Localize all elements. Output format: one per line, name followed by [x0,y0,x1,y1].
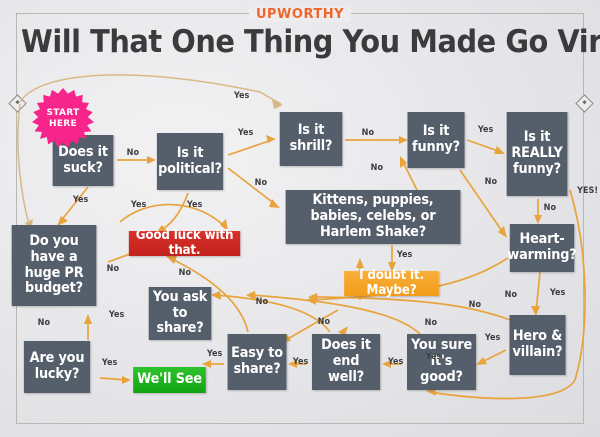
node-label: Is it political? [158,146,222,177]
edge-label-ask-no: No [179,268,191,278]
node-label: Do you have a huge PR budget? [14,234,93,297]
edge-label-kittens-no: No [371,163,383,173]
node-i-doubt-it-maybe[interactable]: I doubt it. Maybe? [344,271,439,296]
node-pr-budget[interactable]: Do you have a huge PR budget? [12,225,97,306]
node-you-ask-to-share[interactable]: You ask to share? [149,287,212,340]
start-badge-line1: START [46,108,79,119]
edge-label-heart-no: No [505,290,517,300]
node-label: Good luck with that. [132,229,238,258]
edge-label-heart-yes: Yes [550,288,565,298]
edge-label-sure-no: No [425,318,437,328]
start-badge-line2: HERE [46,119,79,130]
infographic-poster: UPWORTHY Will That One Thing You Made Go… [0,0,600,437]
edge-label-suck-yes: Yes [73,195,88,205]
node-label: Is it REALLY funny? [509,130,564,177]
edge-label-political-yes-up: Yes [238,128,253,138]
edge-label-really-yes: YES! [577,186,598,196]
edge-label-really-no: No [544,203,556,213]
node-label: You sure it's good? [410,338,473,385]
node-well-see[interactable]: We'll See [133,367,206,393]
node-good-luck-with-that[interactable]: Good luck with that. [129,231,240,256]
edge-label-suck-no: No [127,148,139,158]
edge-label-lucky-no: No [38,318,50,328]
edge-label-endwell-yes: Yes [293,357,308,367]
node-you-sure-its-good[interactable]: You sure it's good? [407,334,476,390]
node-hero-and-villain[interactable]: Hero & villain? [509,315,565,375]
edge-label-political-down: Yes [187,200,202,210]
node-label: Heart-warming? [507,232,576,263]
edge-label-kittens-yes: Yes [397,250,412,260]
edge-label-start-yes: Yes [234,91,249,101]
node-label: Easy to share? [230,346,283,377]
node-is-it-shrill[interactable]: Is it shrill? [280,112,343,166]
node-label: Kittens, puppies, babies, celebs, or Har… [288,193,457,240]
node-is-it-political[interactable]: Is it political? [157,133,223,190]
edge-label-hero-yes: Yes [485,333,500,343]
node-is-it-really-funny[interactable]: Is it REALLY funny? [507,112,568,196]
edge-label-pr-no: No [107,264,119,274]
node-label: Does it end well? [315,338,378,385]
node-label: Is it funny? [410,124,462,155]
edge-label-easy-no: No [256,297,268,307]
node-are-you-lucky[interactable]: Are you lucky? [24,341,90,393]
edge-label-endwell-no: No [318,317,330,327]
edge-label-shrill-no: No [362,128,374,138]
node-easy-to-share[interactable]: Easy to share? [228,334,287,390]
edge-label-sure-yes: Yes [388,357,403,367]
edge-label-political-yes: Yes [131,200,146,210]
node-label: We'll See [137,372,202,388]
node-label: You ask to share? [151,290,208,337]
edge-label-funny-no: No [485,177,497,187]
node-label: Is it shrill? [282,123,339,154]
node-does-it-end-well[interactable]: Does it end well? [312,334,380,390]
node-label: Are you lucky? [27,351,88,382]
node-label: I doubt it. Maybe? [347,269,436,298]
node-kittens-puppies[interactable]: Kittens, puppies, babies, celebs, or Har… [286,190,461,244]
edge-label-funny-yes: Yes [478,125,493,135]
edge-label-easy-yes: Yes [426,352,441,362]
node-label: Does it suck? [55,145,110,176]
node-label: Hero & villain? [512,329,563,360]
edge-label-political-no: No [255,178,267,188]
edge-label-ask-yes: Yes [207,349,222,359]
edge-label-hero-no: No [469,300,481,310]
edge-label-lucky-yes: Yes [102,358,117,368]
edge-label-pr-yes: Yes [109,310,124,320]
node-is-it-funny[interactable]: Is it funny? [407,112,464,168]
node-heartwarming[interactable]: Heart-warming? [510,224,574,272]
